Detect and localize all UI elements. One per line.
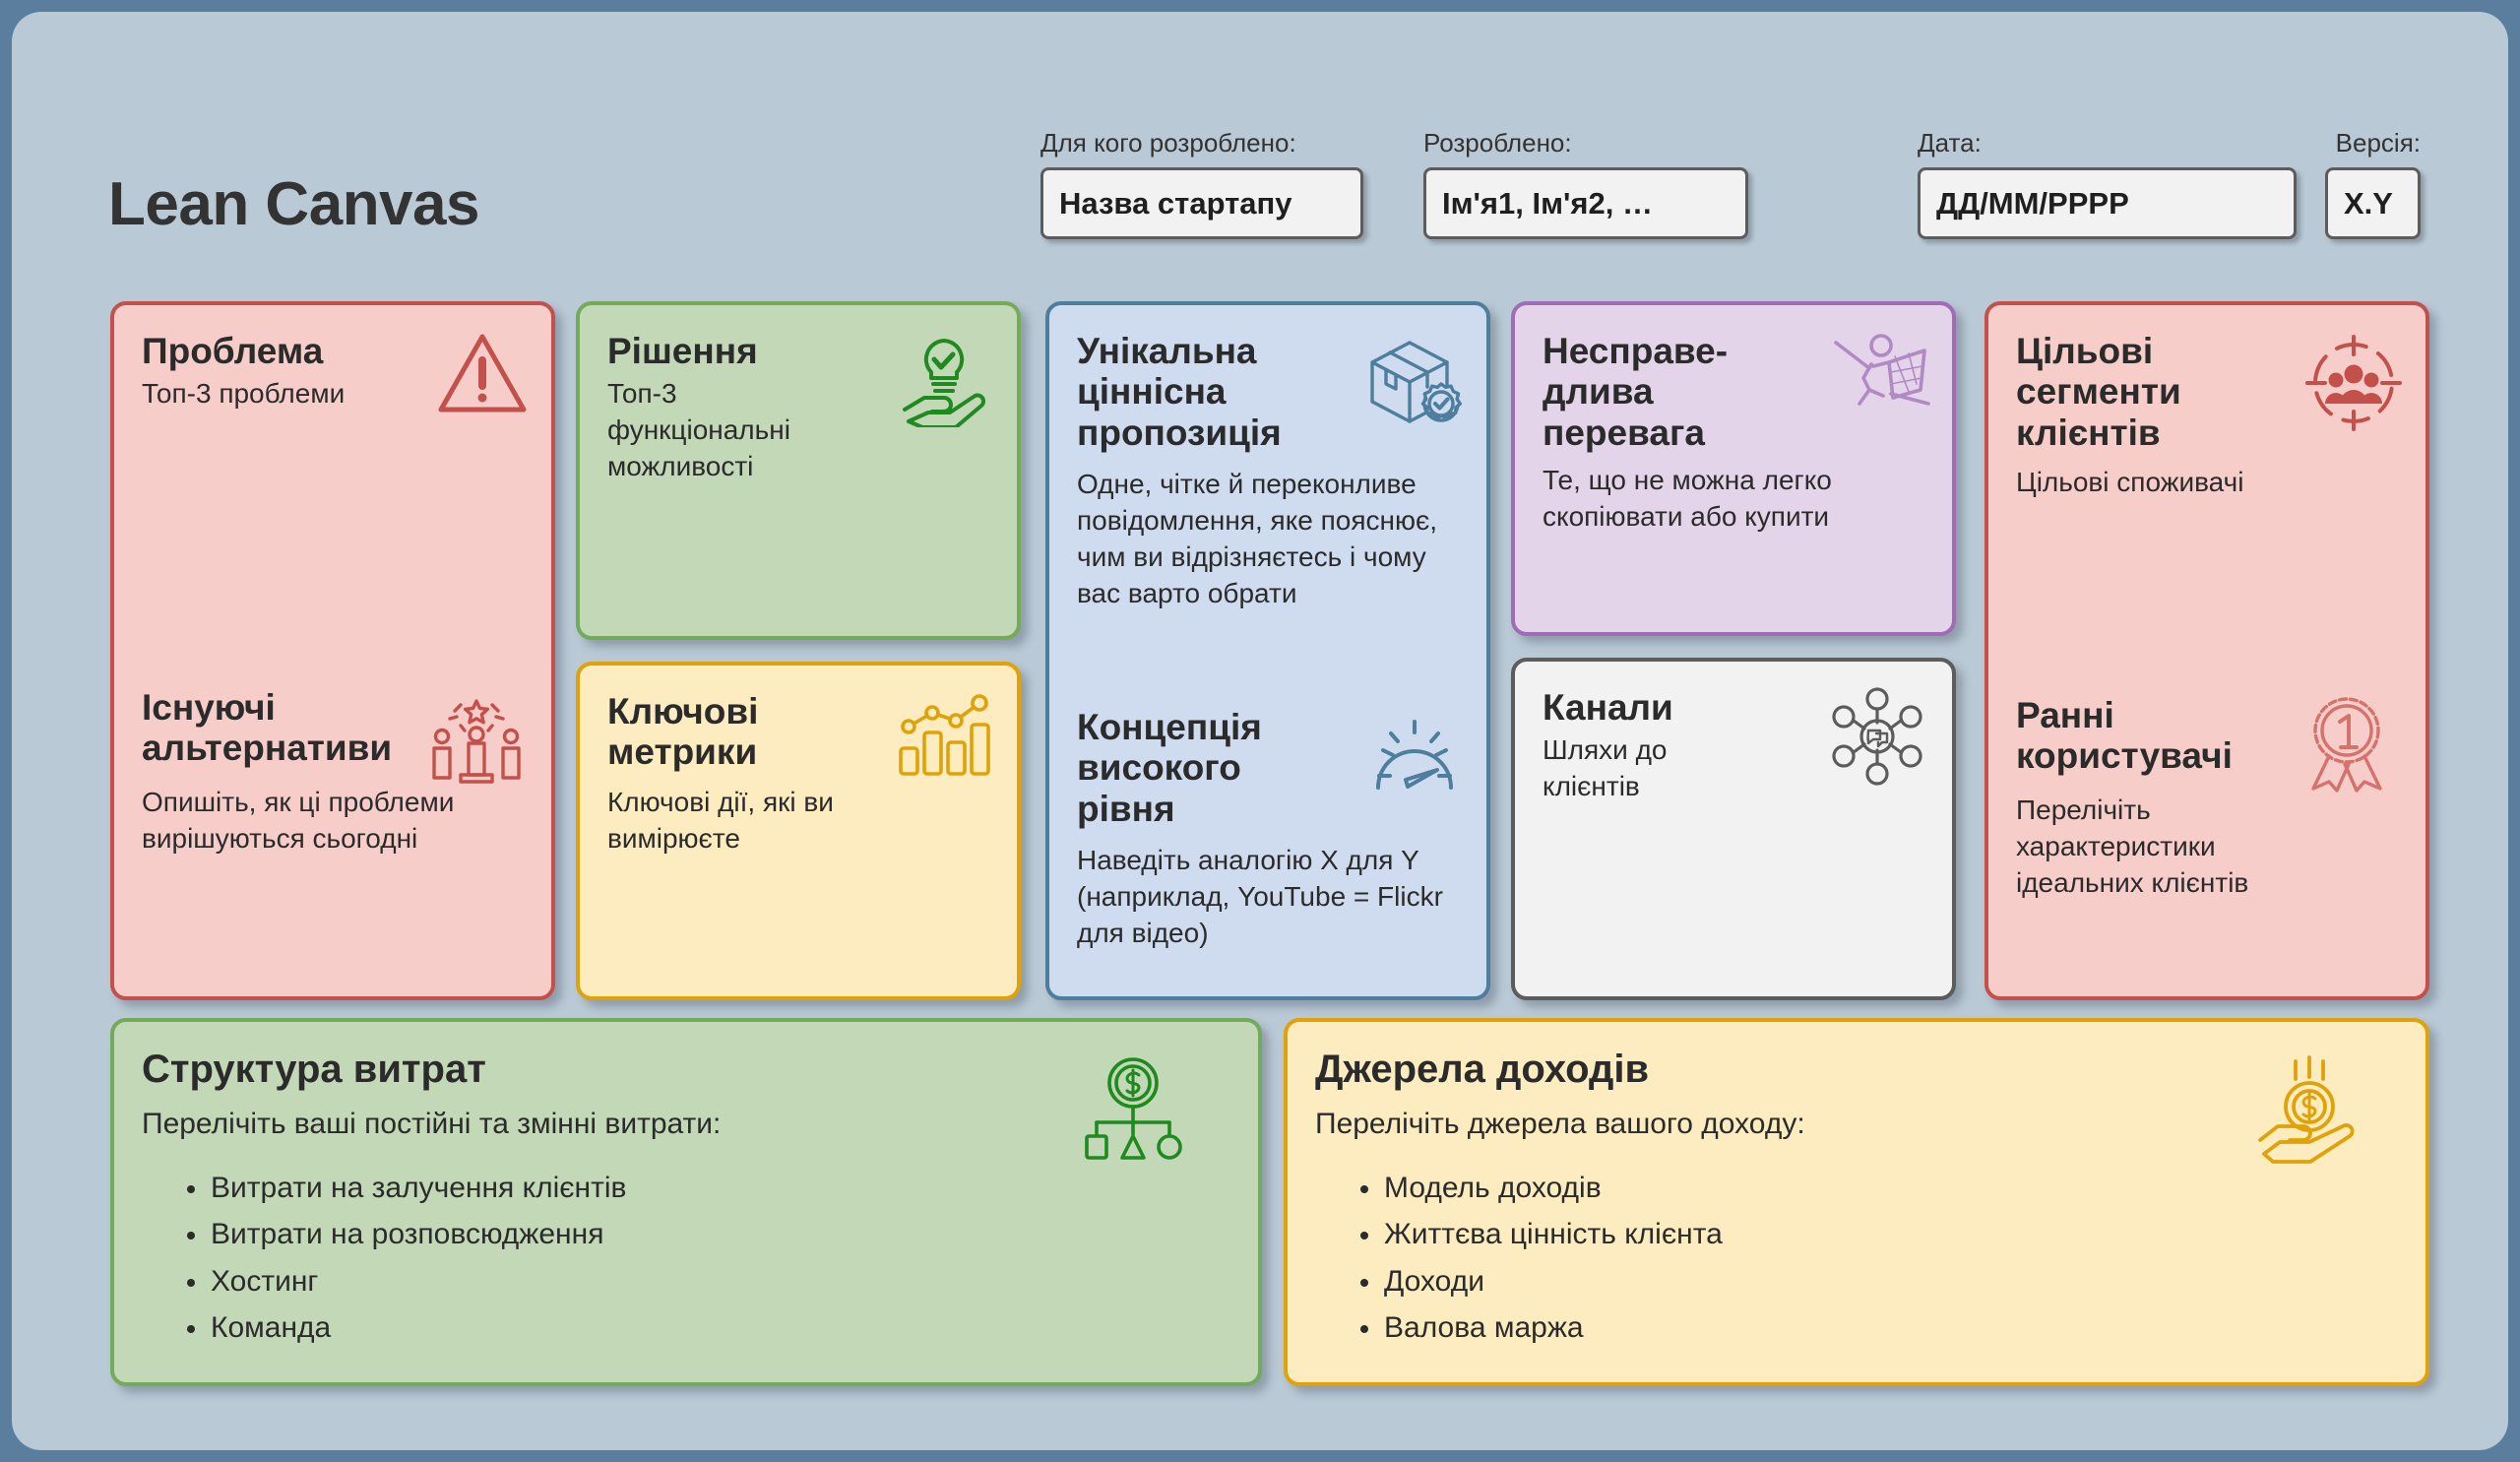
designed-for-field-group: Для кого розроблено: Назва стартапу <box>1040 128 1363 239</box>
key-metrics-description: Ключові дії, які ви вимірюєте <box>607 785 867 858</box>
high-level-concept-description: Наведіть аналогію X для Y (наприклад, Yo… <box>1077 843 1463 952</box>
card-customer-segments[interactable]: Цільові сегменти клієнтів Цільові спожив… <box>1984 301 2429 1000</box>
high-level-concept-title: Концепція високого рівня <box>1077 707 1300 829</box>
target-audience-icon <box>2305 335 2402 436</box>
box-with-badge-icon <box>1362 333 1465 436</box>
early-adopters-title: Ранні користувачі <box>2016 695 2255 777</box>
cost-breakdown-dollar-icon <box>1079 1055 1187 1169</box>
date-input[interactable]: ДД/ММ/РРРР <box>1918 167 2297 239</box>
unfair-advantage-description: Те, що не можна легко скопіювати або куп… <box>1543 463 1924 536</box>
solution-title: Рішення <box>607 331 867 371</box>
cost-structure-title: Структура витрат <box>142 1048 1230 1092</box>
award-ribbon-one-icon <box>2299 695 2394 798</box>
designed-by-label: Розроблено: <box>1423 128 1748 159</box>
list-item: Витрати на розповсюдження <box>187 1211 1230 1257</box>
page-title: Lean Canvas <box>108 169 479 239</box>
channels-description: Шляхи до клієнтів <box>1543 732 1726 805</box>
card-revenue-streams[interactable]: Джерела доходів Перелічіть джерела вашог… <box>1284 1018 2429 1386</box>
canvas-frame: Lean Canvas Для кого розроблено: Назва с… <box>12 12 2508 1450</box>
list-item: Валова маржа <box>1360 1304 2398 1351</box>
version-input[interactable]: X.Y <box>2325 167 2421 239</box>
warning-triangle-icon <box>437 331 528 420</box>
version-field-group: Версія: X.Y <box>2325 128 2421 239</box>
customer-segments-description: Цільові споживачі <box>2016 465 2402 501</box>
revenue-streams-subtitle: Перелічіть джерела вашого доходу: <box>1315 1108 2398 1141</box>
card-unfair-advantage[interactable]: Несправе- длива перевага Те, що не можна… <box>1511 301 1956 636</box>
uvp-title: Унікальна ціннісна пропозиція <box>1077 331 1316 453</box>
list-item: Життєва цінність клієнта <box>1360 1211 2398 1257</box>
cost-structure-subtitle: Перелічіть ваші постійні та змінні витра… <box>142 1108 1230 1141</box>
solution-description: Топ-3 функціональні можливості <box>607 376 845 485</box>
unfair-advantage-title-text: Несправе- длива перевага <box>1543 331 1728 453</box>
unfair-advantage-title: Несправе- длива перевага <box>1543 331 1764 453</box>
lightbulb-in-hand-icon <box>897 335 991 432</box>
list-item: Хостинг <box>187 1258 1230 1304</box>
customer-segments-title: Цільові сегменти клієнтів <box>2016 331 2233 453</box>
list-item: Доходи <box>1360 1258 2398 1304</box>
bar-chart-trend-icon <box>895 691 993 787</box>
channels-title: Канали <box>1543 687 1802 728</box>
problem-title: Проблема <box>142 331 405 371</box>
coin-in-hand-icon <box>2252 1055 2366 1171</box>
butterfly-net-catch-icon <box>1826 329 1930 424</box>
list-item: Команда <box>187 1304 1230 1351</box>
card-channels[interactable]: Канали Шляхи до клієнтів <box>1511 658 1956 1000</box>
card-unique-value-proposition[interactable]: Унікальна ціннісна пропозиція Одне, чітк… <box>1045 301 1490 1000</box>
existing-alternatives-description: Опишіть, як ці проблеми вирішуються сьог… <box>142 785 528 858</box>
card-key-metrics[interactable]: Ключові метрики Ключові дії, які ви вимі… <box>576 662 1021 1000</box>
uvp-description: Одне, чітке й переконливе повідомлення, … <box>1077 467 1463 612</box>
podium-winners-icon <box>425 697 528 793</box>
existing-alternatives-title: Існуючі альтернативи <box>142 687 458 769</box>
early-adopters-description: Перелічіть характеристики ідеальних кліє… <box>2016 793 2301 902</box>
date-label: Дата: <box>1918 128 2297 159</box>
revenue-streams-list: Модель доходів Життєва цінність клієнта … <box>1315 1165 2398 1352</box>
card-solution[interactable]: Рішення Топ-3 функціональні можливості <box>576 301 1021 640</box>
designed-by-field-group: Розроблено: Ім'я1, Ім'я2, … <box>1423 128 1748 239</box>
cost-structure-list: Витрати на залучення клієнтів Витрати на… <box>142 1165 1230 1352</box>
version-label: Версія: <box>2325 128 2421 159</box>
date-field-group: Дата: ДД/ММ/РРРР <box>1918 128 2297 239</box>
list-item: Модель доходів <box>1360 1165 2398 1211</box>
designed-by-input[interactable]: Ім'я1, Ім'я2, … <box>1423 167 1748 239</box>
card-problem[interactable]: Проблема Топ-3 проблеми Існуючі альтерна… <box>110 301 555 1000</box>
revenue-streams-title: Джерела доходів <box>1315 1048 2398 1092</box>
designed-for-input[interactable]: Назва стартапу <box>1040 167 1363 239</box>
card-cost-structure[interactable]: Структура витрат Перелічіть ваші постійн… <box>110 1018 1262 1386</box>
speedometer-icon <box>1368 717 1461 806</box>
designed-for-label: Для кого розроблено: <box>1040 128 1363 159</box>
network-nodes-chat-icon <box>1828 687 1926 791</box>
list-item: Витрати на залучення клієнтів <box>187 1165 1230 1211</box>
key-metrics-title: Ключові метрики <box>607 691 829 773</box>
